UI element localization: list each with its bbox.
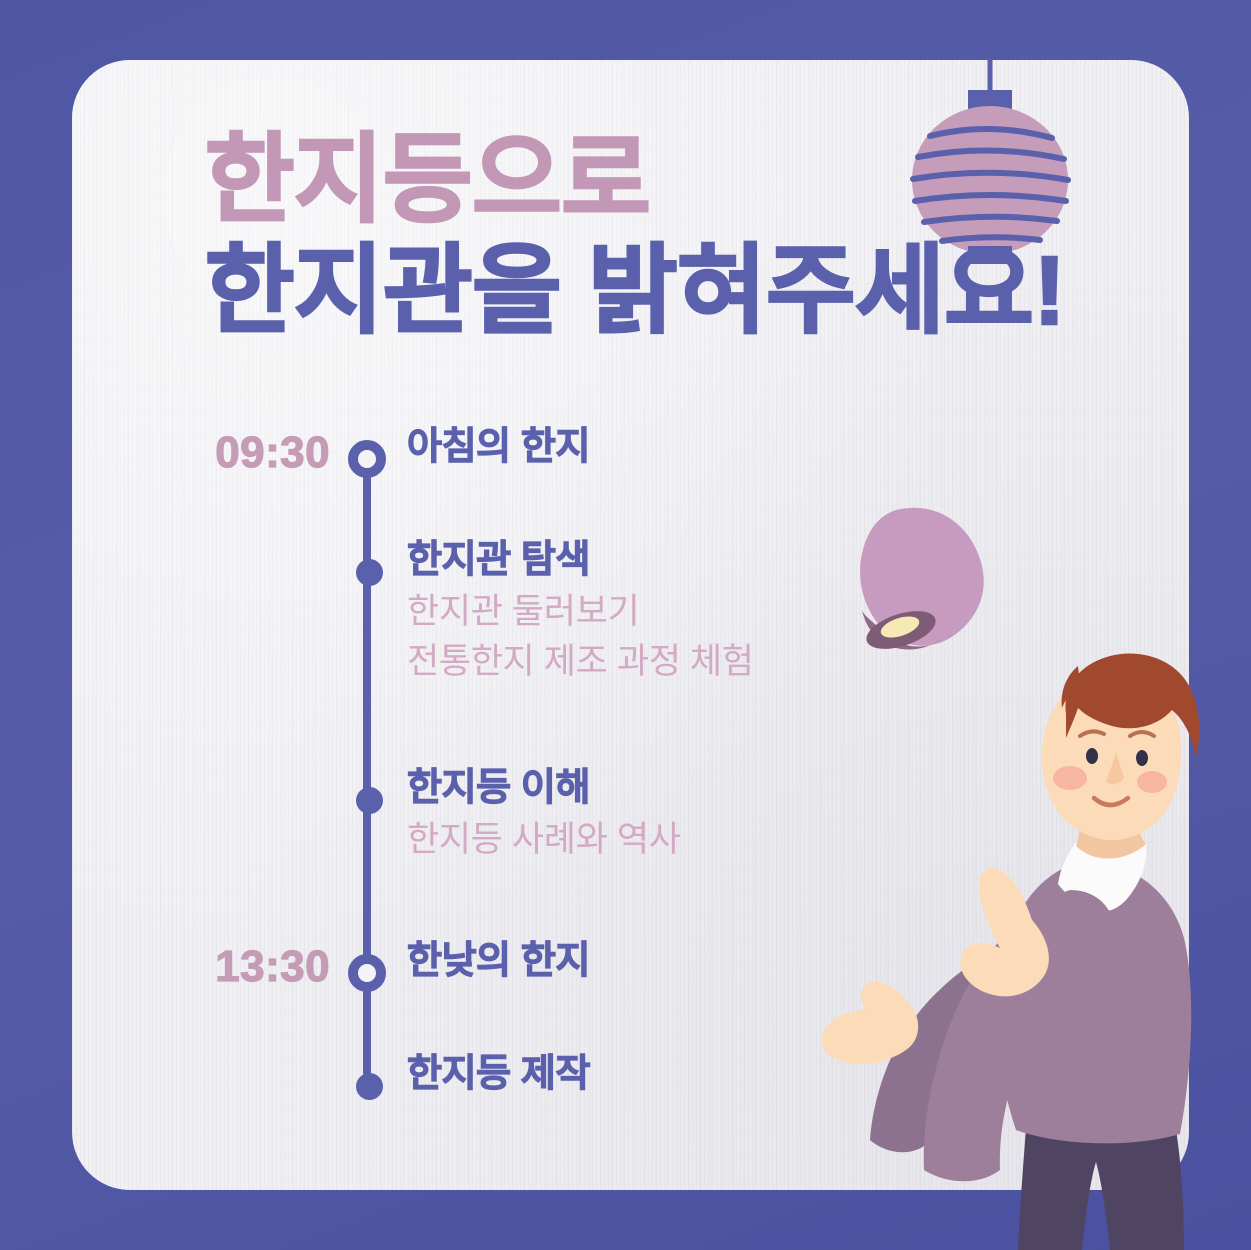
timeline-solid-dot-icon (351, 553, 383, 586)
person-releasing-lantern-illustration (760, 470, 1251, 1250)
timeline-item-title: 아침의 한지 (407, 424, 887, 472)
dot-shape (348, 440, 386, 478)
timeline-item-body: 아침의 한지 (407, 424, 887, 472)
dot-shape (356, 1073, 383, 1100)
timeline-time-label: 13:30 (130, 942, 330, 992)
dot-shape (348, 954, 386, 992)
timeline-solid-dot-icon (351, 1067, 383, 1100)
timeline-solid-dot-icon (351, 781, 383, 814)
timeline-ring-dot-icon (348, 954, 386, 992)
dot-shape (356, 787, 383, 814)
poster-canvas: 한지등으로 한지관을 밝혀주세요! 09:30아침의 한지한지관 탐색한지관 둘… (0, 0, 1251, 1250)
timeline-time-label: 09:30 (130, 428, 330, 478)
timeline-ring-dot-icon (348, 440, 386, 478)
dot-shape (356, 559, 383, 586)
